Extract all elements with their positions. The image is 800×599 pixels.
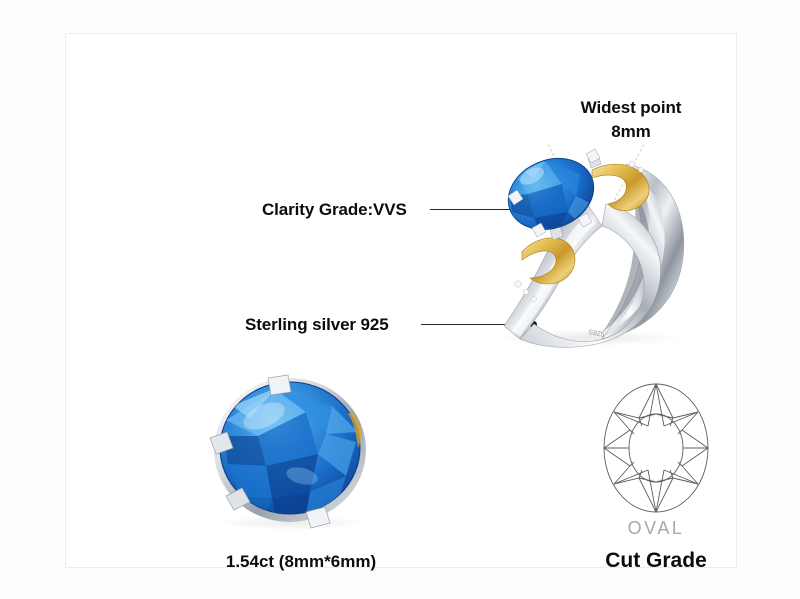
svg-text:S925: S925 xyxy=(588,329,605,339)
sterling-silver-label: Sterling silver 925 xyxy=(245,315,389,335)
clarity-grade-label: Clarity Grade:VVS xyxy=(262,200,407,220)
oval-cut-diagram xyxy=(594,378,718,518)
cut-shape-name: OVAL xyxy=(566,518,746,539)
page-background: Widest point 8mm Clarity Grade:VVS Sterl… xyxy=(0,0,800,599)
product-info-card: Widest point 8mm Clarity Grade:VVS Sterl… xyxy=(65,33,737,568)
ring-product-photo: S925 xyxy=(476,134,706,349)
gemstone-closeup-photo xyxy=(206,372,376,534)
gemstone-caption: 1.54ct (8mm*6mm) xyxy=(166,552,436,572)
widest-point-label: Widest point xyxy=(571,96,691,120)
cut-grade-caption: Cut Grade xyxy=(566,549,746,573)
